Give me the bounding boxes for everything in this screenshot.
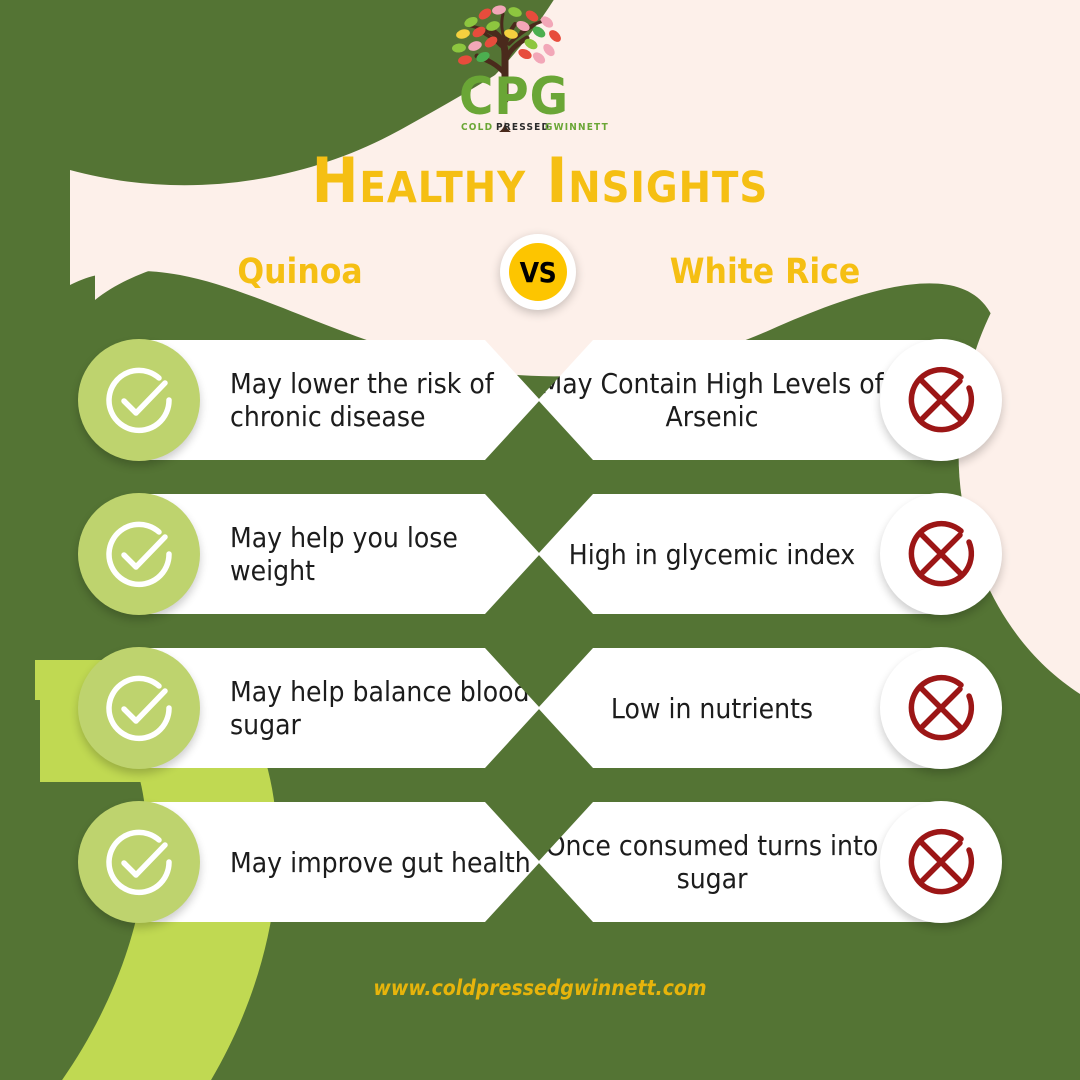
vs-badge: VS (500, 234, 576, 310)
comparison-rows: May lower the risk of chronic disease Ma… (0, 0, 1080, 1080)
benefit-text: May improve gut health (230, 846, 531, 879)
drawback-text: Low in nutrients (611, 692, 813, 725)
check-circle-icon (78, 801, 200, 923)
no-entry-cross-icon (880, 339, 1002, 461)
check-circle-icon (78, 493, 200, 615)
no-entry-cross-icon (880, 493, 1002, 615)
no-entry-cross-icon (880, 647, 1002, 769)
check-circle-icon (78, 339, 200, 461)
check-circle-icon (78, 647, 200, 769)
benefit-text: May lower the risk of chronic disease (230, 367, 540, 433)
table-row: May lower the risk of chronic disease Ma… (0, 340, 1080, 460)
table-row: May help balance blood sugar Low in nutr… (0, 648, 1080, 768)
table-row: May improve gut health Once consumed tur… (0, 802, 1080, 922)
drawback-text: Once consumed turns into sugar (538, 829, 886, 895)
vs-label: VS (509, 243, 567, 301)
infographic-canvas: CPG COLD PRESSED GWINNETT Healthy Insigh… (0, 0, 1080, 1080)
drawback-text: High in glycemic index (569, 538, 855, 571)
drawback-text: May Contain High Levels of Arsenic (538, 367, 886, 433)
benefit-text: May help balance blood sugar (230, 675, 540, 741)
benefit-text: May help you lose weight (230, 521, 540, 587)
no-entry-cross-icon (880, 801, 1002, 923)
table-row: May help you lose weight High in glycemi… (0, 494, 1080, 614)
